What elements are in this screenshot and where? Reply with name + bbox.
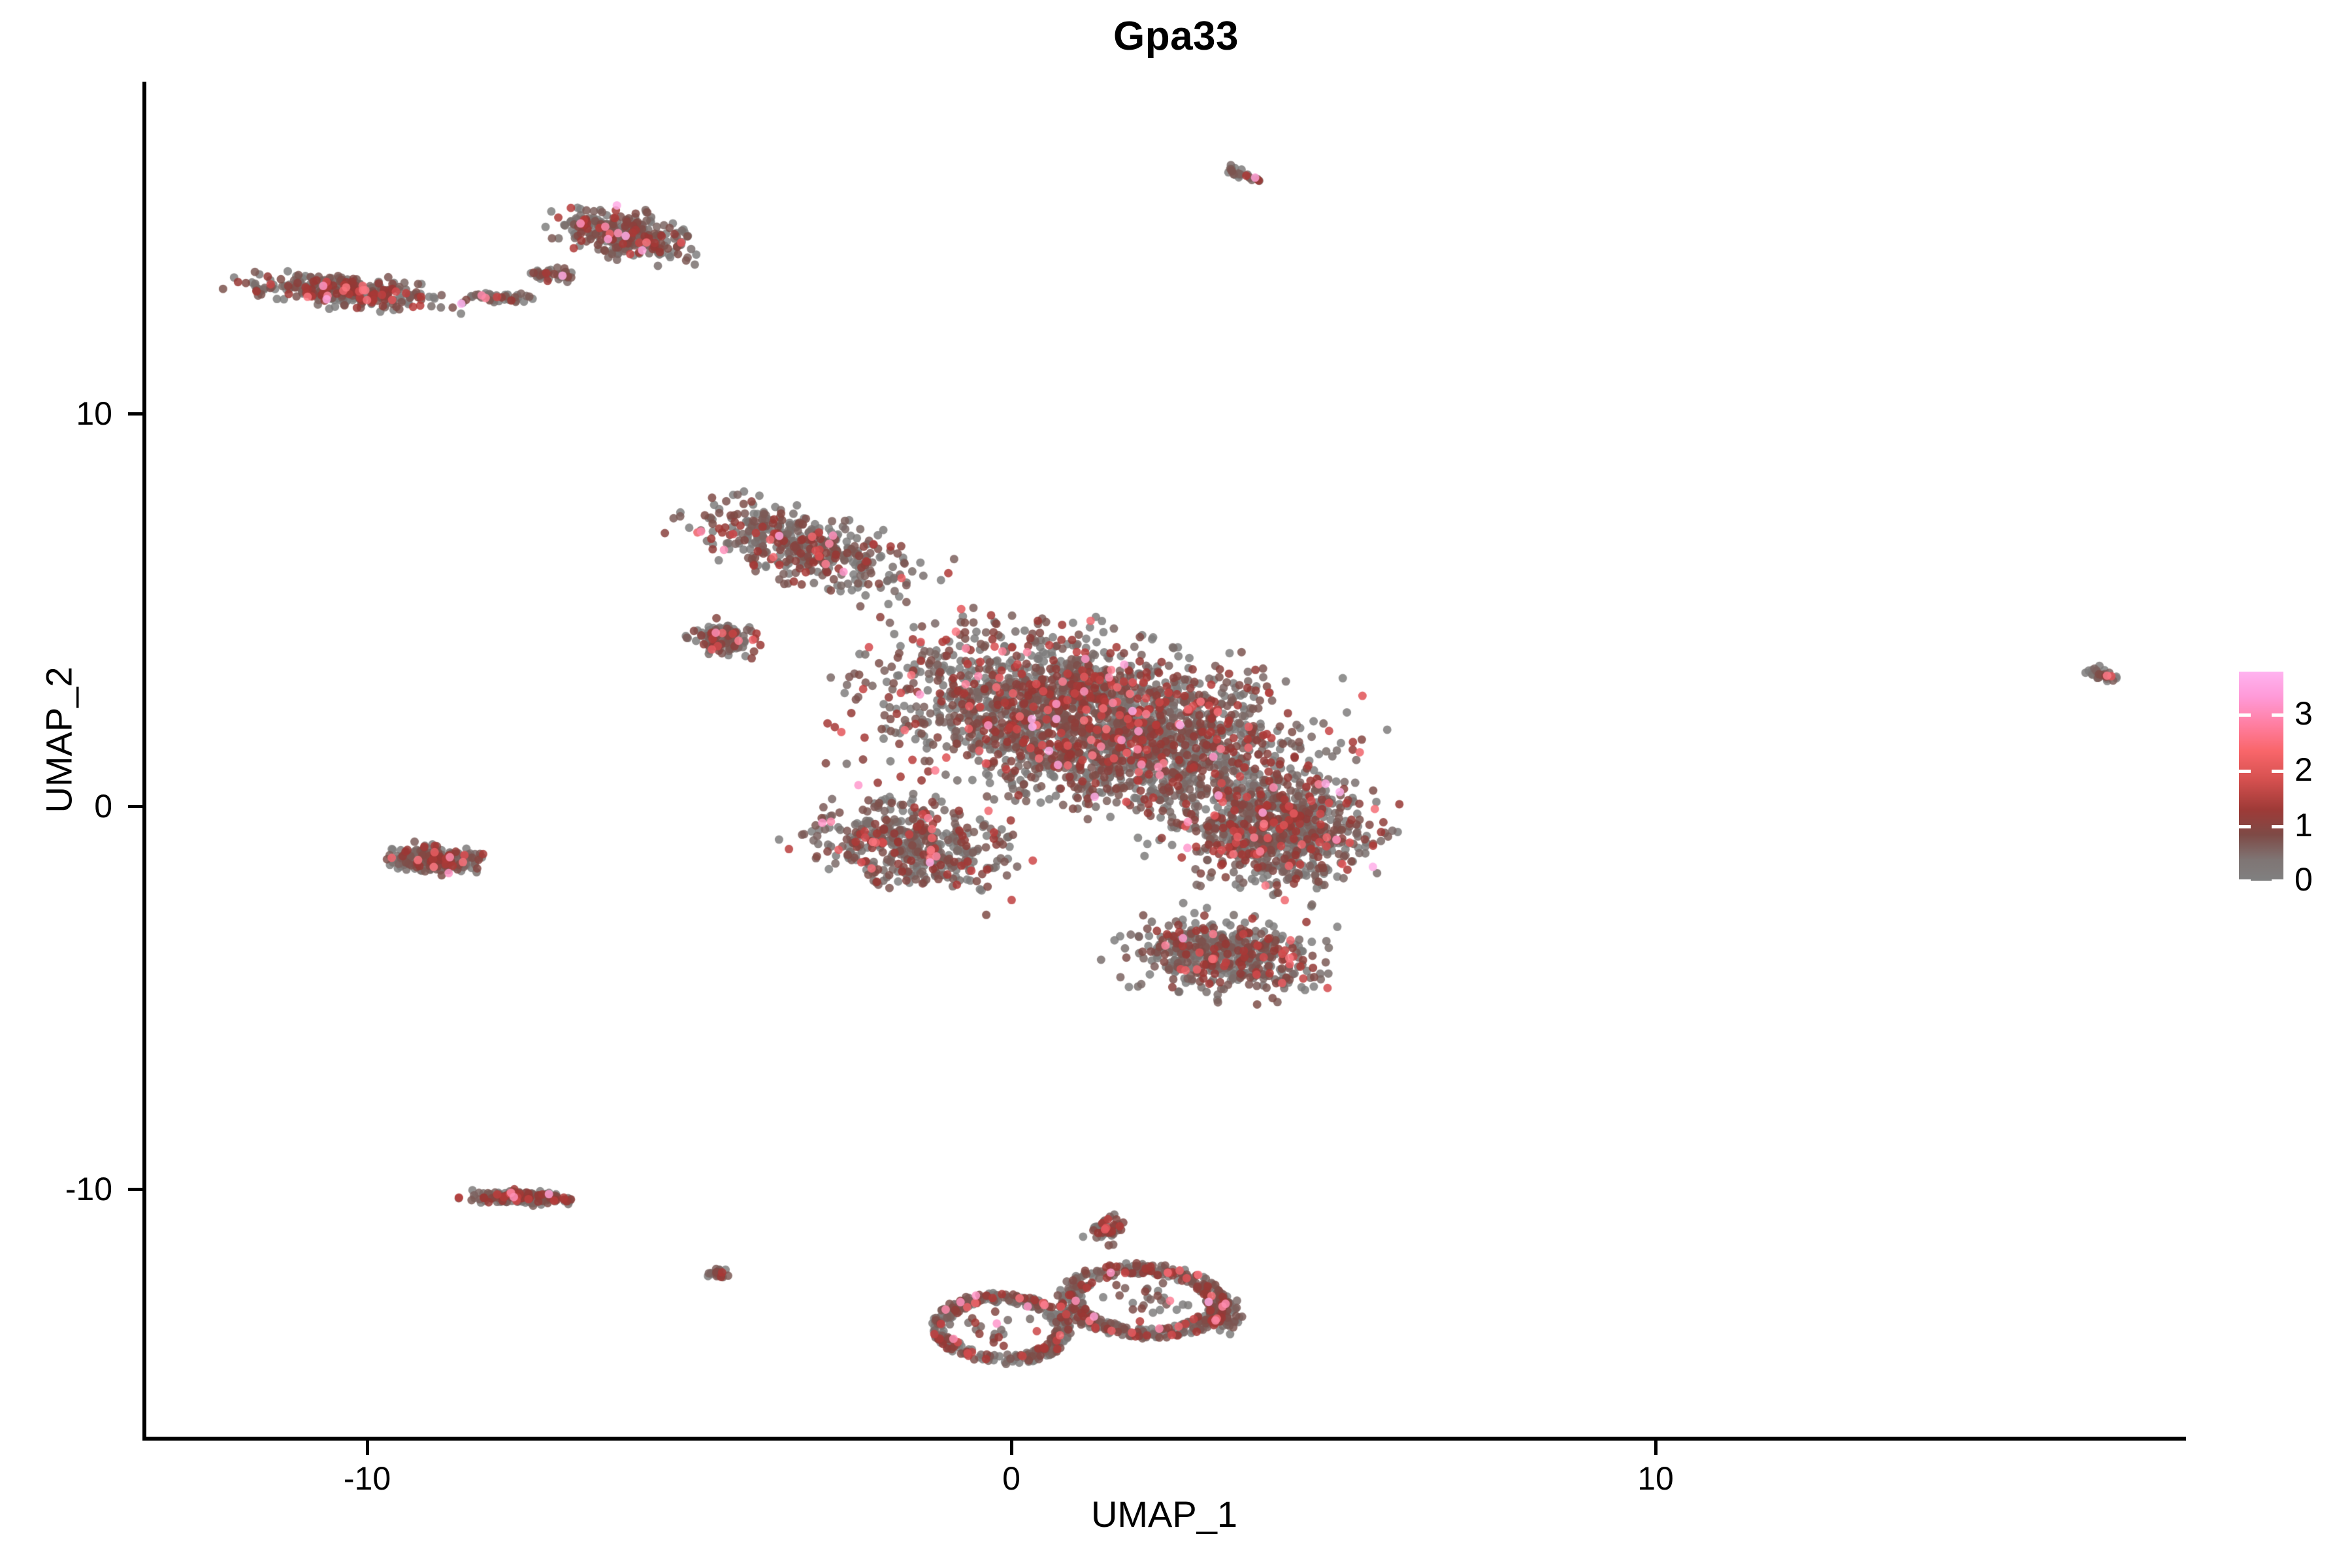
y-tick-mark--10 [128,1188,142,1191]
colorbar-tick-right-3 [2272,713,2283,717]
x-tick-label--10: -10 [269,1462,465,1495]
colorbar-tick-right-2 [2272,770,2283,773]
x-axis-line [142,1437,2186,1441]
page-title: Gpa33 [0,0,2352,72]
x-tick-mark-0 [1010,1441,1013,1455]
colorbar-tick-left-2 [2239,770,2251,773]
plot-panel [145,82,2183,1439]
colorbar-tick-right-1 [2272,825,2283,828]
legend-colorbar: 3 2 1 0 [2234,666,2352,892]
colorbar-tick-left-1 [2239,825,2251,828]
plot-root: Gpa33 10 0 -10 -10 0 10 UMAP_1 UMAP_2 3 … [0,0,2352,1568]
y-tick-mark-10 [128,412,142,416]
colorbar-tick-right-0 [2272,879,2283,883]
x-axis-title: UMAP_1 [142,1493,2186,1535]
colorbar-gradient [2239,672,2283,881]
colorbar-tick-left-3 [2239,713,2251,717]
y-tick-label-10: 10 [13,397,112,430]
scatter-plot-canvas [145,82,2183,1439]
y-tick-mark-0 [128,805,142,808]
y-axis-line [142,82,146,1441]
x-tick-label-10: 10 [1558,1462,1754,1495]
y-axis-title: UMAP_2 [38,446,80,1034]
colorbar-label-0: 0 [2295,863,2313,896]
colorbar-tick-left-0 [2239,879,2251,883]
colorbar-label-3: 3 [2295,697,2313,730]
y-tick-label--10: -10 [13,1173,112,1205]
x-tick-mark-10 [1654,1441,1658,1455]
colorbar-label-2: 2 [2295,753,2313,786]
x-tick-label-0: 0 [913,1462,1109,1495]
colorbar-label-1: 1 [2295,809,2313,841]
x-tick-mark--10 [366,1441,369,1455]
